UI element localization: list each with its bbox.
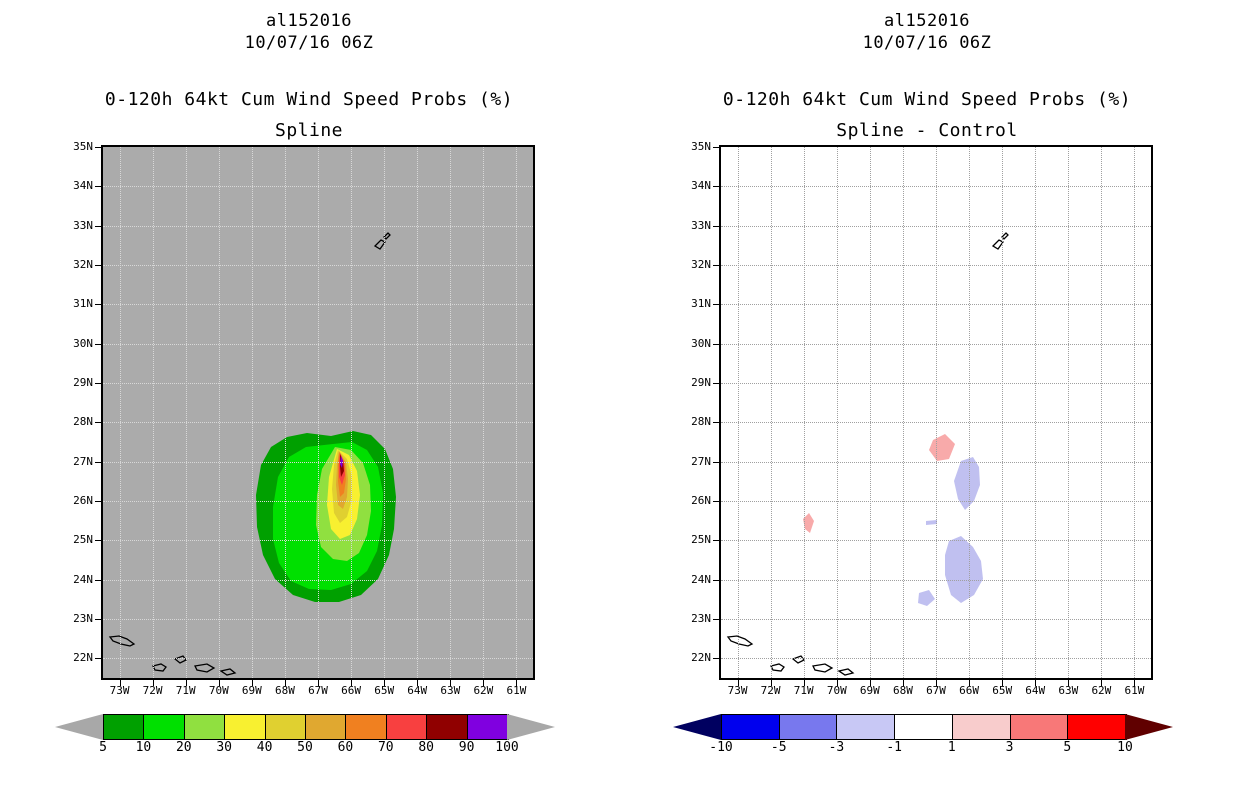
xtick-mark-63W xyxy=(1068,680,1069,686)
colorbar-tick-spline-10: 10 xyxy=(123,740,163,755)
ytick-label-30N: 30N xyxy=(677,337,711,350)
ytick-label-32N: 32N xyxy=(677,258,711,271)
colorbar-difference[interactable]: -10-5-3-113510 xyxy=(673,714,1173,774)
xtick-mark-70W xyxy=(837,680,838,686)
colorbar-under-arrow-left xyxy=(55,714,103,740)
xtick-mark-61W xyxy=(1134,680,1135,686)
xtick-mark-72W xyxy=(771,680,772,686)
colorbar-swatch-spline-9 xyxy=(468,715,508,739)
xtick-mark-65W xyxy=(384,680,385,686)
colorbar-swatch-spline-8 xyxy=(427,715,467,739)
map-difference[interactable] xyxy=(719,145,1153,680)
ytick-mark-31N xyxy=(95,304,101,305)
ytick-label-27N: 27N xyxy=(677,455,711,468)
date-right: 10/07/16 06Z xyxy=(618,33,1236,53)
ytick-mark-35N xyxy=(713,147,719,148)
ytick-label-35N: 35N xyxy=(59,140,93,153)
ytick-label-23N: 23N xyxy=(59,612,93,625)
xtick-mark-71W xyxy=(804,680,805,686)
colorbar-tick-spline-80: 80 xyxy=(406,740,446,755)
ytick-mark-24N xyxy=(713,580,719,581)
panel-spline: al152016 10/07/16 06Z 0-120h 64kt Cum Wi… xyxy=(0,0,618,800)
colorbar-tick-diff-3: 3 xyxy=(990,740,1030,755)
ytick-label-34N: 34N xyxy=(59,179,93,192)
ytick-mark-30N xyxy=(95,344,101,345)
ytick-mark-25N xyxy=(713,540,719,541)
colorbar-tick-diff--1: -1 xyxy=(874,740,914,755)
ytick-mark-31N xyxy=(713,304,719,305)
ytick-label-22N: 22N xyxy=(59,651,93,664)
ytick-mark-30N xyxy=(713,344,719,345)
xtick-mark-70W xyxy=(219,680,220,686)
colorbar-tick-diff--3: -3 xyxy=(816,740,856,755)
colorbar-tick-spline-5: 5 xyxy=(83,740,123,755)
ytick-label-28N: 28N xyxy=(677,415,711,428)
anomaly-overlay-right xyxy=(721,147,1151,678)
colorbar-tick-spline-20: 20 xyxy=(164,740,204,755)
ytick-label-24N: 24N xyxy=(59,573,93,586)
anomaly-negative-3 xyxy=(945,536,983,603)
colorbar-swatch-diff-0 xyxy=(722,715,780,739)
xtick-mark-64W xyxy=(417,680,418,686)
subtitle-right: Spline - Control xyxy=(618,120,1236,141)
ytick-mark-23N xyxy=(713,619,719,620)
colorbar-under-arrow-right xyxy=(673,714,721,740)
ytick-label-33N: 33N xyxy=(677,219,711,232)
ytick-mark-28N xyxy=(95,422,101,423)
ytick-label-34N: 34N xyxy=(677,179,711,192)
xtick-mark-67W xyxy=(318,680,319,686)
colorbar-swatch-spline-3 xyxy=(225,715,265,739)
ytick-label-24N: 24N xyxy=(677,573,711,586)
map-spline[interactable] xyxy=(101,145,535,680)
ytick-mark-22N xyxy=(95,658,101,659)
ytick-label-28N: 28N xyxy=(59,415,93,428)
ytick-label-33N: 33N xyxy=(59,219,93,232)
colorbar-tick-spline-70: 70 xyxy=(366,740,406,755)
colorbar-tick-diff--5: -5 xyxy=(759,740,799,755)
xtick-mark-61W xyxy=(516,680,517,686)
ytick-label-30N: 30N xyxy=(59,337,93,350)
ytick-label-35N: 35N xyxy=(677,140,711,153)
ytick-label-23N: 23N xyxy=(677,612,711,625)
colorbar-swatch-spline-6 xyxy=(346,715,386,739)
colorbar-spline[interactable]: 5102030405060708090100 xyxy=(55,714,555,774)
ytick-label-26N: 26N xyxy=(677,494,711,507)
ytick-mark-29N xyxy=(95,383,101,384)
contour-overlay-left xyxy=(103,147,533,678)
subtitle-left: Spline xyxy=(0,120,618,141)
storm-id-left: al152016 xyxy=(0,11,618,31)
ytick-mark-26N xyxy=(713,501,719,502)
colorbar-tick-spline-60: 60 xyxy=(325,740,365,755)
ytick-mark-34N xyxy=(95,186,101,187)
colorbar-tick-diff--10: -10 xyxy=(701,740,741,755)
colorbar-swatch-spline-5 xyxy=(306,715,346,739)
coastline-right xyxy=(728,233,1008,675)
colorbar-tick-diff-5: 5 xyxy=(1047,740,1087,755)
xtick-mark-72W xyxy=(153,680,154,686)
colorbar-swatch-diff-4 xyxy=(953,715,1011,739)
ytick-mark-28N xyxy=(713,422,719,423)
ytick-mark-34N xyxy=(713,186,719,187)
xtick-mark-71W xyxy=(186,680,187,686)
xtick-mark-67W xyxy=(936,680,937,686)
colorbar-tick-spline-40: 40 xyxy=(245,740,285,755)
storm-id-right: al152016 xyxy=(618,11,1236,31)
colorbar-swatch-spline-0 xyxy=(104,715,144,739)
colorbar-swatch-diff-1 xyxy=(780,715,838,739)
ytick-mark-32N xyxy=(95,265,101,266)
ytick-label-22N: 22N xyxy=(677,651,711,664)
colorbar-swatch-spline-1 xyxy=(144,715,184,739)
panel-spline-minus-control: al152016 10/07/16 06Z 0-120h 64kt Cum Wi… xyxy=(618,0,1236,800)
ytick-mark-25N xyxy=(95,540,101,541)
xtick-mark-62W xyxy=(1101,680,1102,686)
xtick-mark-73W xyxy=(120,680,121,686)
colorbar-tick-spline-90: 90 xyxy=(447,740,487,755)
colorbar-swatch-diff-6 xyxy=(1068,715,1126,739)
ytick-mark-27N xyxy=(95,462,101,463)
xtick-mark-63W xyxy=(450,680,451,686)
xtick-mark-68W xyxy=(285,680,286,686)
anomaly-positive-2 xyxy=(803,513,814,533)
xtick-mark-73W xyxy=(738,680,739,686)
colorbar-tick-spline-100: 100 xyxy=(487,740,527,755)
colorbar-tick-spline-50: 50 xyxy=(285,740,325,755)
anomaly-negative-1 xyxy=(954,457,980,510)
ytick-label-27N: 27N xyxy=(59,455,93,468)
ytick-mark-33N xyxy=(95,226,101,227)
ytick-label-32N: 32N xyxy=(59,258,93,271)
xtick-mark-62W xyxy=(483,680,484,686)
colorbar-swatch-diff-5 xyxy=(1011,715,1069,739)
xtick-mark-66W xyxy=(351,680,352,686)
ytick-mark-23N xyxy=(95,619,101,620)
ytick-label-29N: 29N xyxy=(677,376,711,389)
ytick-label-25N: 25N xyxy=(59,533,93,546)
anomaly-negative-4 xyxy=(918,590,935,606)
colorbar-tick-spline-30: 30 xyxy=(204,740,244,755)
colorbar-swatch-spline-7 xyxy=(387,715,427,739)
ytick-label-29N: 29N xyxy=(59,376,93,389)
product-title-right: 0-120h 64kt Cum Wind Speed Probs (%) xyxy=(618,89,1236,110)
colorbar-swatch-spline-2 xyxy=(185,715,225,739)
colorbar-swatch-diff-2 xyxy=(837,715,895,739)
ytick-mark-24N xyxy=(95,580,101,581)
colorbar-swatch-diff-3 xyxy=(895,715,953,739)
ytick-mark-29N xyxy=(713,383,719,384)
date-left: 10/07/16 06Z xyxy=(0,33,618,53)
ytick-mark-35N xyxy=(95,147,101,148)
ytick-mark-22N xyxy=(713,658,719,659)
ytick-mark-27N xyxy=(713,462,719,463)
ytick-label-25N: 25N xyxy=(677,533,711,546)
xtick-mark-65W xyxy=(1002,680,1003,686)
colorbar-over-arrow-left xyxy=(507,714,555,740)
xtick-mark-66W xyxy=(969,680,970,686)
colorbar-tick-diff-1: 1 xyxy=(932,740,972,755)
colorbar-over-arrow-right xyxy=(1125,714,1173,740)
ytick-label-26N: 26N xyxy=(59,494,93,507)
ytick-mark-32N xyxy=(713,265,719,266)
colorbar-tick-diff-10: 10 xyxy=(1105,740,1145,755)
anomaly-positive-1 xyxy=(929,434,955,461)
xtick-mark-69W xyxy=(870,680,871,686)
product-title-left: 0-120h 64kt Cum Wind Speed Probs (%) xyxy=(0,89,618,110)
ytick-label-31N: 31N xyxy=(59,297,93,310)
xtick-mark-68W xyxy=(903,680,904,686)
xtick-mark-64W xyxy=(1035,680,1036,686)
xtick-mark-69W xyxy=(252,680,253,686)
ytick-mark-33N xyxy=(713,226,719,227)
colorbar-swatch-spline-4 xyxy=(266,715,306,739)
anomaly-negative-2 xyxy=(926,520,937,525)
ytick-mark-26N xyxy=(95,501,101,502)
ytick-label-31N: 31N xyxy=(677,297,711,310)
